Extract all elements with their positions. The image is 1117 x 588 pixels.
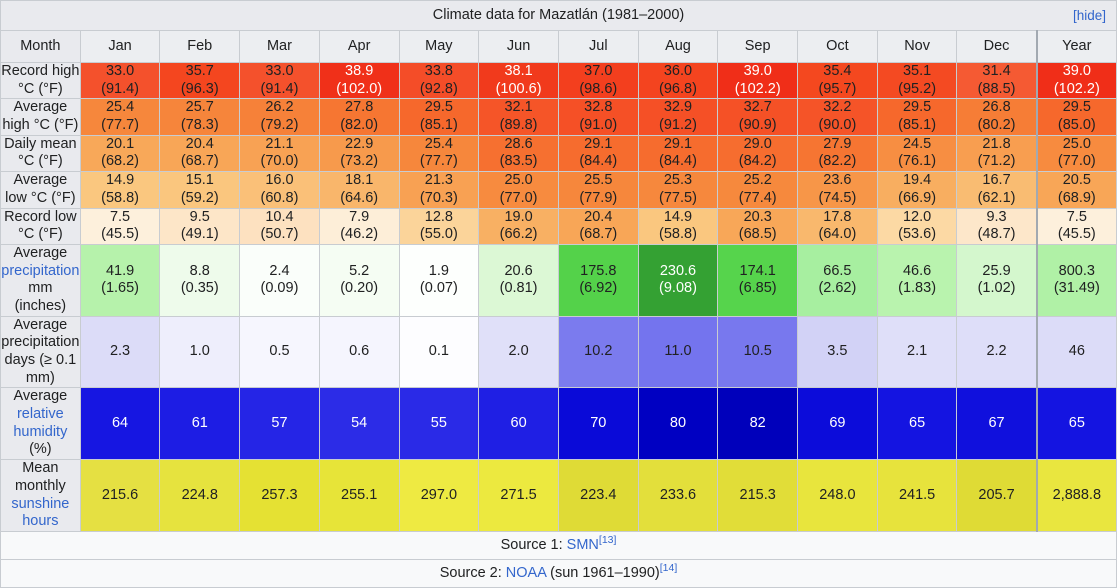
- cell-value-alt: (58.8): [639, 226, 718, 244]
- source-row: Source 2: NOAA (sun 1961–1990)[14]: [1, 559, 1117, 587]
- row-label-text: Mean monthly: [15, 460, 66, 494]
- data-cell: 25.2(77.4): [718, 172, 798, 208]
- data-cell: 70: [558, 388, 638, 460]
- cell-value: 215.3: [718, 487, 797, 505]
- cell-value: 26.2: [240, 99, 319, 117]
- cell-value-alt: (82.0): [320, 117, 399, 135]
- cell-value-alt: (64.0): [798, 226, 877, 244]
- table-title-cell: Climate data for Mazatlán (1981–2000)[hi…: [1, 1, 1117, 31]
- cell-value-alt: (77.5): [639, 190, 718, 208]
- cell-value: 80: [639, 415, 718, 433]
- cell-value: 11.0: [639, 343, 718, 361]
- data-cell: 19.4(66.9): [877, 172, 957, 208]
- cell-value: 175.8: [559, 263, 638, 281]
- cell-value: 57: [240, 415, 319, 433]
- cell-value: 38.9: [320, 63, 399, 81]
- data-cell: 14.9(58.8): [80, 172, 160, 208]
- source-link[interactable]: SMN: [567, 537, 599, 553]
- cell-value: 12.8: [400, 209, 479, 227]
- data-cell: 255.1: [319, 460, 399, 532]
- data-cell: 38.1(100.6): [479, 63, 559, 99]
- cell-value: 3.5: [798, 343, 877, 361]
- cell-value-alt: (77.0): [479, 190, 558, 208]
- data-cell: 297.0: [399, 460, 479, 532]
- cell-value: 23.6: [798, 172, 877, 190]
- cell-value: 33.8: [400, 63, 479, 81]
- cell-value: 14.9: [81, 172, 160, 190]
- cell-value-alt: (68.2): [81, 153, 160, 171]
- data-cell: 7.5(45.5): [80, 208, 160, 244]
- cell-value: 36.0: [639, 63, 718, 81]
- row-label-text: mm (inches): [15, 280, 67, 314]
- cell-value-alt: (2.62): [798, 280, 877, 298]
- data-cell: 36.0(96.8): [638, 63, 718, 99]
- cell-value: 174.1: [718, 263, 797, 281]
- row-label-text: Record high °C (°F): [1, 63, 79, 97]
- header-col-dec: Dec: [957, 31, 1037, 63]
- cell-value: 24.5: [878, 136, 957, 154]
- cell-value-alt: (9.08): [639, 280, 718, 298]
- row-label-text: (%): [29, 441, 52, 457]
- cell-value: 35.7: [160, 63, 239, 81]
- cell-value: 19.4: [878, 172, 957, 190]
- header-month: Month: [1, 31, 81, 63]
- data-cell: 29.1(84.4): [558, 135, 638, 171]
- data-cell: 0.6: [319, 316, 399, 388]
- cell-value-alt: (90.9): [718, 117, 797, 135]
- row-label: Record high °C (°F): [1, 63, 81, 99]
- data-cell: 69: [798, 388, 878, 460]
- data-cell: 0.1: [399, 316, 479, 388]
- data-cell: 8.8(0.35): [160, 244, 240, 316]
- cell-value: 1.0: [160, 343, 239, 361]
- data-cell: 29.0(84.2): [718, 135, 798, 171]
- data-cell: 32.1(89.8): [479, 99, 559, 135]
- data-cell: 175.8(6.92): [558, 244, 638, 316]
- row-label-link[interactable]: sunshine hours: [11, 496, 69, 530]
- header-col-year: Year: [1037, 31, 1117, 63]
- cell-value: 67: [957, 415, 1035, 433]
- data-cell: 25.0(77.0): [479, 172, 559, 208]
- data-cell: 25.9(1.02): [957, 244, 1037, 316]
- cell-value: 12.0: [878, 209, 957, 227]
- data-cell: 33.0(91.4): [80, 63, 160, 99]
- cell-value: 37.0: [559, 63, 638, 81]
- cell-value: 2.1: [878, 343, 957, 361]
- data-cell: 2.3: [80, 316, 160, 388]
- data-cell: 9.5(49.1): [160, 208, 240, 244]
- cell-value-alt: (84.2): [718, 153, 797, 171]
- data-cell: 41.9(1.65): [80, 244, 160, 316]
- cell-value-alt: (45.5): [81, 226, 160, 244]
- data-cell: 24.5(76.1): [877, 135, 957, 171]
- cell-value-alt: (85.1): [400, 117, 479, 135]
- data-cell: 800.3(31.49): [1037, 244, 1117, 316]
- data-cell: 224.8: [160, 460, 240, 532]
- cell-value-alt: (70.0): [240, 153, 319, 171]
- cell-value: 10.2: [559, 343, 638, 361]
- data-cell: 29.5(85.1): [399, 99, 479, 135]
- cell-value-alt: (102.2): [718, 81, 797, 99]
- cell-value: 20.3: [718, 209, 797, 227]
- row-label-text: Average: [13, 388, 67, 404]
- data-cell: 31.4(88.5): [957, 63, 1037, 99]
- row-label-text: Daily mean °C (°F): [4, 136, 77, 170]
- data-cell: 2.4(0.09): [240, 244, 320, 316]
- data-cell: 16.0(60.8): [240, 172, 320, 208]
- data-cell: 82: [718, 388, 798, 460]
- row-label-text: Average: [13, 245, 67, 261]
- row-label: Average relative humidity (%): [1, 388, 81, 460]
- cell-value: 16.7: [957, 172, 1035, 190]
- source-prefix: Source 1:: [501, 537, 567, 553]
- data-cell: 12.8(55.0): [399, 208, 479, 244]
- cell-value: 38.1: [479, 63, 558, 81]
- table-row: Average relative humidity (%)64615754556…: [1, 388, 1117, 460]
- data-cell: 19.0(66.2): [479, 208, 559, 244]
- header-col-aug: Aug: [638, 31, 718, 63]
- data-cell: 65: [1037, 388, 1117, 460]
- cell-value-alt: (1.02): [957, 280, 1035, 298]
- data-cell: 27.9(82.2): [798, 135, 878, 171]
- cell-value-alt: (50.7): [240, 226, 319, 244]
- row-label: Average precipitation mm (inches): [1, 244, 81, 316]
- row-label-text: Average high °C (°F): [2, 99, 78, 133]
- data-cell: 32.8(91.0): [558, 99, 638, 135]
- cell-value: 9.5: [160, 209, 239, 227]
- cell-value: 69: [798, 415, 877, 433]
- data-cell: 39.0(102.2): [1037, 63, 1117, 99]
- source-reference-link[interactable]: [14]: [660, 562, 678, 574]
- cell-value-alt: (0.81): [479, 280, 558, 298]
- row-label-link[interactable]: relative humidity: [13, 406, 67, 440]
- cell-value-alt: (76.1): [878, 153, 957, 171]
- cell-value-alt: (77.4): [718, 190, 797, 208]
- data-cell: 33.8(92.8): [399, 63, 479, 99]
- cell-value: 9.3: [957, 209, 1035, 227]
- cell-value-alt: (98.6): [559, 81, 638, 99]
- cell-value: 205.7: [957, 487, 1035, 505]
- row-label: Average high °C (°F): [1, 99, 81, 135]
- cell-value-alt: (0.07): [400, 280, 479, 298]
- data-cell: 10.2: [558, 316, 638, 388]
- cell-value: 32.2: [798, 99, 877, 117]
- cell-value: 32.1: [479, 99, 558, 117]
- cell-value-alt: (79.2): [240, 117, 319, 135]
- cell-value: 22.9: [320, 136, 399, 154]
- data-cell: 20.4(68.7): [160, 135, 240, 171]
- data-cell: 20.3(68.5): [718, 208, 798, 244]
- data-cell: 205.7: [957, 460, 1037, 532]
- data-cell: 21.8(71.2): [957, 135, 1037, 171]
- cell-value-alt: (55.0): [400, 226, 479, 244]
- cell-value: 10.5: [718, 343, 797, 361]
- cell-value-alt: (66.2): [479, 226, 558, 244]
- header-col-oct: Oct: [798, 31, 878, 63]
- table-row: Average low °C (°F)14.9(58.8)15.1(59.2)1…: [1, 172, 1117, 208]
- cell-value-alt: (92.8): [400, 81, 479, 99]
- cell-value-alt: (84.4): [639, 153, 718, 171]
- cell-value: 65: [878, 415, 957, 433]
- cell-value: 25.9: [957, 263, 1035, 281]
- data-cell: 14.9(58.8): [638, 208, 718, 244]
- cell-value-alt: (53.6): [878, 226, 957, 244]
- data-cell: 29.5(85.1): [877, 99, 957, 135]
- cell-value-alt: (90.0): [798, 117, 877, 135]
- cell-value: 35.4: [798, 63, 877, 81]
- row-label: Average low °C (°F): [1, 172, 81, 208]
- cell-value-alt: (0.35): [160, 280, 239, 298]
- row-label: Daily mean °C (°F): [1, 135, 81, 171]
- cell-value: 1.9: [400, 263, 479, 281]
- data-cell: 7.9(46.2): [319, 208, 399, 244]
- data-cell: 271.5: [479, 460, 559, 532]
- cell-value: 25.0: [479, 172, 558, 190]
- cell-value: 20.4: [559, 209, 638, 227]
- cell-value: 66.5: [798, 263, 877, 281]
- data-cell: 80: [638, 388, 718, 460]
- cell-value-alt: (85.0): [1038, 117, 1116, 135]
- cell-value: 15.1: [160, 172, 239, 190]
- cell-value: 223.4: [559, 487, 638, 505]
- cell-value-alt: (71.2): [957, 153, 1035, 171]
- cell-value: 61: [160, 415, 239, 433]
- data-cell: 60: [479, 388, 559, 460]
- data-cell: 20.6(0.81): [479, 244, 559, 316]
- cell-value: 20.6: [479, 263, 558, 281]
- cell-value-alt: (95.2): [878, 81, 957, 99]
- cell-value-alt: (91.2): [639, 117, 718, 135]
- cell-value: 20.4: [160, 136, 239, 154]
- row-label-text: Average low °C (°F): [5, 172, 75, 206]
- cell-value: 19.0: [479, 209, 558, 227]
- cell-value-alt: (91.4): [240, 81, 319, 99]
- cell-value-alt: (68.9): [1038, 190, 1116, 208]
- cell-value: 35.1: [878, 63, 957, 81]
- cell-value-alt: (80.2): [957, 117, 1035, 135]
- cell-value: 233.6: [639, 487, 718, 505]
- cell-value: 2.3: [81, 343, 160, 361]
- cell-value: 10.4: [240, 209, 319, 227]
- source-reference-link[interactable]: [13]: [599, 534, 617, 546]
- data-cell: 2,888.8: [1037, 460, 1117, 532]
- data-cell: 32.9(91.2): [638, 99, 718, 135]
- data-cell: 25.0(77.0): [1037, 135, 1117, 171]
- data-cell: 46: [1037, 316, 1117, 388]
- cell-value: 70: [559, 415, 638, 433]
- cell-value: 800.3: [1038, 263, 1116, 281]
- cell-value: 0.1: [400, 343, 479, 361]
- cell-value: 33.0: [240, 63, 319, 81]
- data-cell: 39.0(102.2): [718, 63, 798, 99]
- data-cell: 12.0(53.6): [877, 208, 957, 244]
- data-cell: 27.8(82.0): [319, 99, 399, 135]
- row-label-link[interactable]: precipitation: [1, 263, 79, 279]
- data-cell: 21.3(70.3): [399, 172, 479, 208]
- cell-value: 297.0: [400, 487, 479, 505]
- cell-value: 29.1: [639, 136, 718, 154]
- cell-value: 82: [718, 415, 797, 433]
- cell-value: 5.2: [320, 263, 399, 281]
- header-col-nov: Nov: [877, 31, 957, 63]
- data-cell: 0.5: [240, 316, 320, 388]
- cell-value-alt: (70.3): [400, 190, 479, 208]
- data-cell: 223.4: [558, 460, 638, 532]
- cell-value: 18.1: [320, 172, 399, 190]
- climate-data-table: Climate data for Mazatlán (1981–2000)[hi…: [0, 0, 1117, 588]
- cell-value-alt: (77.7): [81, 117, 160, 135]
- row-label: Average precipitation days (≥ 0.1 mm): [1, 316, 81, 388]
- data-cell: 25.4(77.7): [80, 99, 160, 135]
- data-cell: 25.3(77.5): [638, 172, 718, 208]
- cell-value-alt: (91.4): [81, 81, 160, 99]
- source-cell-1: Source 1: SMN[13]: [1, 531, 1117, 559]
- data-cell: 35.4(95.7): [798, 63, 878, 99]
- cell-value-alt: (59.2): [160, 190, 239, 208]
- source-prefix: Source 2:: [440, 565, 506, 581]
- data-cell: 215.6: [80, 460, 160, 532]
- header-col-jun: Jun: [479, 31, 559, 63]
- cell-value-alt: (68.5): [718, 226, 797, 244]
- cell-value-alt: (89.8): [479, 117, 558, 135]
- cell-value-alt: (66.9): [878, 190, 957, 208]
- data-cell: 15.1(59.2): [160, 172, 240, 208]
- data-cell: 11.0: [638, 316, 718, 388]
- cell-value-alt: (31.49): [1038, 280, 1116, 298]
- cell-value: 17.8: [798, 209, 877, 227]
- data-cell: 20.5(68.9): [1037, 172, 1117, 208]
- cell-value: 25.2: [718, 172, 797, 190]
- cell-value: 27.8: [320, 99, 399, 117]
- data-cell: 2.1: [877, 316, 957, 388]
- cell-value-alt: (6.92): [559, 280, 638, 298]
- cell-value: 215.6: [81, 487, 160, 505]
- cell-value: 25.0: [1038, 136, 1116, 154]
- header-col-jul: Jul: [558, 31, 638, 63]
- source-suffix: (sun 1961–1990): [546, 565, 660, 581]
- data-cell: 26.8(80.2): [957, 99, 1037, 135]
- row-label-text: Average precipitation days (≥ 0.1 mm): [1, 317, 79, 386]
- cell-value: 25.5: [559, 172, 638, 190]
- cell-value: 29.0: [718, 136, 797, 154]
- cell-value: 224.8: [160, 487, 239, 505]
- header-col-feb: Feb: [160, 31, 240, 63]
- data-cell: 233.6: [638, 460, 718, 532]
- cell-value: 39.0: [1038, 63, 1116, 81]
- data-cell: 17.8(64.0): [798, 208, 878, 244]
- cell-value: 21.1: [240, 136, 319, 154]
- data-cell: 5.2(0.20): [319, 244, 399, 316]
- cell-value: 33.0: [81, 63, 160, 81]
- cell-value-alt: (6.85): [718, 280, 797, 298]
- data-cell: 61: [160, 388, 240, 460]
- cell-value-alt: (102.0): [320, 81, 399, 99]
- cell-value-alt: (74.5): [798, 190, 877, 208]
- row-label: Record low °C (°F): [1, 208, 81, 244]
- source-row: Source 1: SMN[13]: [1, 531, 1117, 559]
- data-cell: 3.5: [798, 316, 878, 388]
- table-row: Mean monthly sunshine hours215.6224.8257…: [1, 460, 1117, 532]
- cell-value: 20.5: [1038, 172, 1116, 190]
- cell-value-alt: (64.6): [320, 190, 399, 208]
- header-col-mar: Mar: [240, 31, 320, 63]
- table-row: Average precipitation days (≥ 0.1 mm)2.3…: [1, 316, 1117, 388]
- cell-value-alt: (77.0): [1038, 153, 1116, 171]
- cell-value-alt: (96.8): [639, 81, 718, 99]
- source-cell-2: Source 2: NOAA (sun 1961–1990)[14]: [1, 559, 1117, 587]
- data-cell: 22.9(73.2): [319, 135, 399, 171]
- cell-value: 54: [320, 415, 399, 433]
- cell-value: 55: [400, 415, 479, 433]
- data-cell: 215.3: [718, 460, 798, 532]
- cell-value: 271.5: [479, 487, 558, 505]
- cell-value-alt: (100.6): [479, 81, 558, 99]
- cell-value-alt: (0.20): [320, 280, 399, 298]
- header-col-sep: Sep: [718, 31, 798, 63]
- header-col-jan: Jan: [80, 31, 160, 63]
- cell-value: 21.8: [957, 136, 1035, 154]
- data-cell: 54: [319, 388, 399, 460]
- table-title-row: Climate data for Mazatlán (1981–2000)[hi…: [1, 1, 1117, 31]
- data-cell: 64: [80, 388, 160, 460]
- data-cell: 57: [240, 388, 320, 460]
- cell-value: 20.1: [81, 136, 160, 154]
- hide-toggle-link[interactable]: [hide]: [1073, 7, 1106, 23]
- data-cell: 9.3(48.7): [957, 208, 1037, 244]
- cell-value: 29.5: [1038, 99, 1116, 117]
- data-cell: 32.2(90.0): [798, 99, 878, 135]
- cell-value-alt: (49.1): [160, 226, 239, 244]
- cell-value-alt: (96.3): [160, 81, 239, 99]
- cell-value: 2,888.8: [1038, 487, 1116, 505]
- cell-value: 32.9: [639, 99, 718, 117]
- cell-value: 31.4: [957, 63, 1035, 81]
- data-cell: 29.1(84.4): [638, 135, 718, 171]
- cell-value: 255.1: [320, 487, 399, 505]
- cell-value-alt: (1.65): [81, 280, 160, 298]
- cell-value: 230.6: [639, 263, 718, 281]
- cell-value: 60: [479, 415, 558, 433]
- table-row: Average high °C (°F)25.4(77.7)25.7(78.3)…: [1, 99, 1117, 135]
- data-cell: 25.4(77.7): [399, 135, 479, 171]
- data-cell: 248.0: [798, 460, 878, 532]
- table-row: Average precipitation mm (inches)41.9(1.…: [1, 244, 1117, 316]
- cell-value: 32.7: [718, 99, 797, 117]
- cell-value: 248.0: [798, 487, 877, 505]
- cell-value-alt: (68.7): [559, 226, 638, 244]
- cell-value: 27.9: [798, 136, 877, 154]
- data-cell: 25.5(77.9): [558, 172, 638, 208]
- cell-value-alt: (83.5): [479, 153, 558, 171]
- cell-value: 25.7: [160, 99, 239, 117]
- data-cell: 230.6(9.08): [638, 244, 718, 316]
- data-cell: 10.4(50.7): [240, 208, 320, 244]
- table-row: Record high °C (°F)33.0(91.4)35.7(96.3)3…: [1, 63, 1117, 99]
- source-link[interactable]: NOAA: [506, 565, 546, 581]
- cell-value-alt: (68.7): [160, 153, 239, 171]
- data-cell: 1.0: [160, 316, 240, 388]
- cell-value-alt: (60.8): [240, 190, 319, 208]
- cell-value: 46.6: [878, 263, 957, 281]
- cell-value-alt: (46.2): [320, 226, 399, 244]
- cell-value: 29.5: [400, 99, 479, 117]
- data-cell: 67: [957, 388, 1037, 460]
- cell-value-alt: (77.9): [559, 190, 638, 208]
- cell-value: 0.5: [240, 343, 319, 361]
- cell-value: 26.8: [957, 99, 1035, 117]
- cell-value: 8.8: [160, 263, 239, 281]
- cell-value: 32.8: [559, 99, 638, 117]
